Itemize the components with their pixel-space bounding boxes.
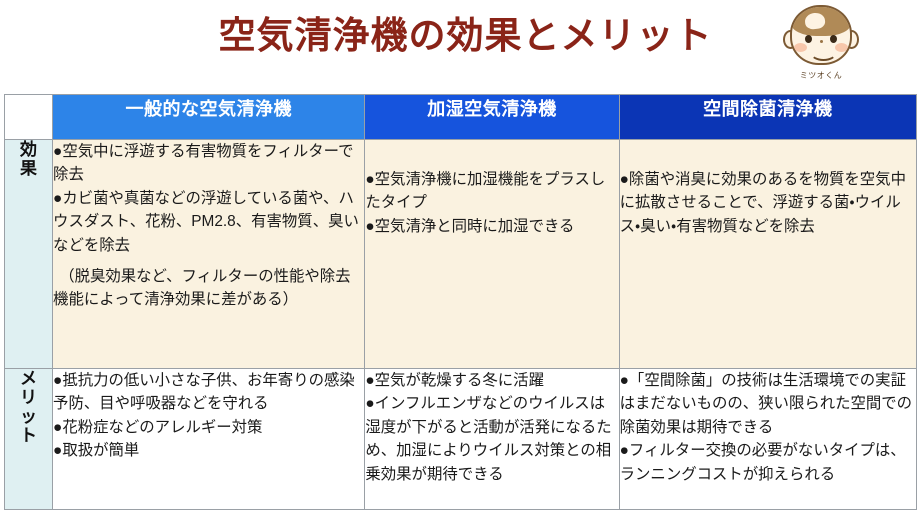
comparison-table-wrapper: 一般的な空気清浄機 加湿空気清浄機 空間除菌清浄機 効 果 ●空気中に浮遊する有… xyxy=(4,94,917,510)
cell-effect-general: ●空気中に浮遊する有害物質をフィルターで除去 ●カビ菌や真菌などの浮遊している菌… xyxy=(53,140,365,369)
table-corner-cell xyxy=(5,95,53,140)
mascot-eye-left-icon xyxy=(805,35,812,43)
cell-line: ●空気が乾燥する冬に活躍 xyxy=(365,369,618,392)
column-header-general: 一般的な空気清浄機 xyxy=(53,95,365,140)
cell-line: ●花粉症などのアレルギー対策 xyxy=(53,416,364,439)
cell-line: ●抵抗力の低い小さな子供、お年寄りの感染予防、目や呼吸器などを守れる xyxy=(53,369,364,416)
cell-merit-steril: ●「空間除菌」の技術は生活環境での実証はまだないものの、狭い限られた空間での除菌… xyxy=(619,369,916,510)
cell-line: ●インフルエンザなどのウイルスは湿度が下がると活動が活発になるため、加湿によりウ… xyxy=(365,392,618,486)
row-label-char: ト xyxy=(5,426,52,445)
cell-merit-general: ●抵抗力の低い小さな子供、お年寄りの感染予防、目や呼吸器などを守れる ●花粉症な… xyxy=(53,369,365,510)
mascot-caption: ミツオくん xyxy=(776,70,866,81)
table-row-merit: メ リ ッ ト ●抵抗力の低い小さな子供、お年寄りの感染予防、目や呼吸器などを守… xyxy=(5,369,917,510)
cell-line: ●空気清浄機に加湿機能をプラスしたタイプ xyxy=(365,168,618,215)
page-header: 空気清浄機の効果とメリット ミツオくん xyxy=(0,0,921,92)
cell-line: ●「空間除菌」の技術は生活環境での実証はまだないものの、狭い限られた空間での除菌… xyxy=(620,369,916,439)
mascot-head-icon xyxy=(790,5,852,65)
table-row-effect: 効 果 ●空気中に浮遊する有害物質をフィルターで除去 ●カビ菌や真菌などの浮遊し… xyxy=(5,140,917,369)
cell-line: ●空気清浄と同時に加湿できる xyxy=(365,215,618,238)
column-header-humidify: 加湿空気清浄機 xyxy=(365,95,619,140)
mascot-mouth-icon xyxy=(810,44,837,61)
row-label-char: リ xyxy=(5,388,52,407)
table-header-row: 一般的な空気清浄機 加湿空気清浄機 空間除菌清浄機 xyxy=(5,95,917,140)
mascot-hair-fringe-icon xyxy=(804,12,826,30)
cell-line: ●カビ菌や真菌などの浮遊している菌や、ハウスダスト、花粉、PM2.8、有害物質、… xyxy=(53,187,364,257)
mascot-hair-icon xyxy=(791,6,851,36)
row-label-effect: 効 果 xyxy=(5,140,53,369)
cell-line: ●除菌や消臭に効果のあるを物質を空気中に拡散させることで、浮遊する菌・ウイルス・… xyxy=(620,168,916,238)
mascot-nose-icon xyxy=(820,40,823,43)
mascot-face-icon xyxy=(783,2,859,68)
comparison-table: 一般的な空気清浄機 加湿空気清浄機 空間除菌清浄機 効 果 ●空気中に浮遊する有… xyxy=(4,94,917,510)
column-header-steril: 空間除菌清浄機 xyxy=(619,95,916,140)
cell-line: ●取扱が簡単 xyxy=(53,439,364,462)
mascot-illustration: ミツオくん xyxy=(776,2,866,88)
row-label-merit: メ リ ッ ト xyxy=(5,369,53,510)
row-label-char: 効 xyxy=(5,140,52,159)
cell-line: （脱臭効果など、フィルターの性能や除去機能によって清浄効果に差がある） xyxy=(53,265,364,312)
cell-line: ●フィルター交換の必要がないタイプは、ランニングコストが抑えられる xyxy=(620,439,916,486)
row-label-char: 果 xyxy=(5,159,52,178)
mascot-cheek-left-icon xyxy=(794,43,807,52)
cell-effect-humidify: ●空気清浄機に加湿機能をプラスしたタイプ ●空気清浄と同時に加湿できる xyxy=(365,140,619,369)
mascot-eye-right-icon xyxy=(830,35,837,43)
row-label-char: ッ xyxy=(5,407,52,426)
row-label-char: メ xyxy=(5,369,52,388)
cell-merit-humidify: ●空気が乾燥する冬に活躍 ●インフルエンザなどのウイルスは湿度が下がると活動が活… xyxy=(365,369,619,510)
cell-effect-steril: ●除菌や消臭に効果のあるを物質を空気中に拡散させることで、浮遊する菌・ウイルス・… xyxy=(619,140,916,369)
cell-line: ●空気中に浮遊する有害物質をフィルターで除去 xyxy=(53,140,364,187)
